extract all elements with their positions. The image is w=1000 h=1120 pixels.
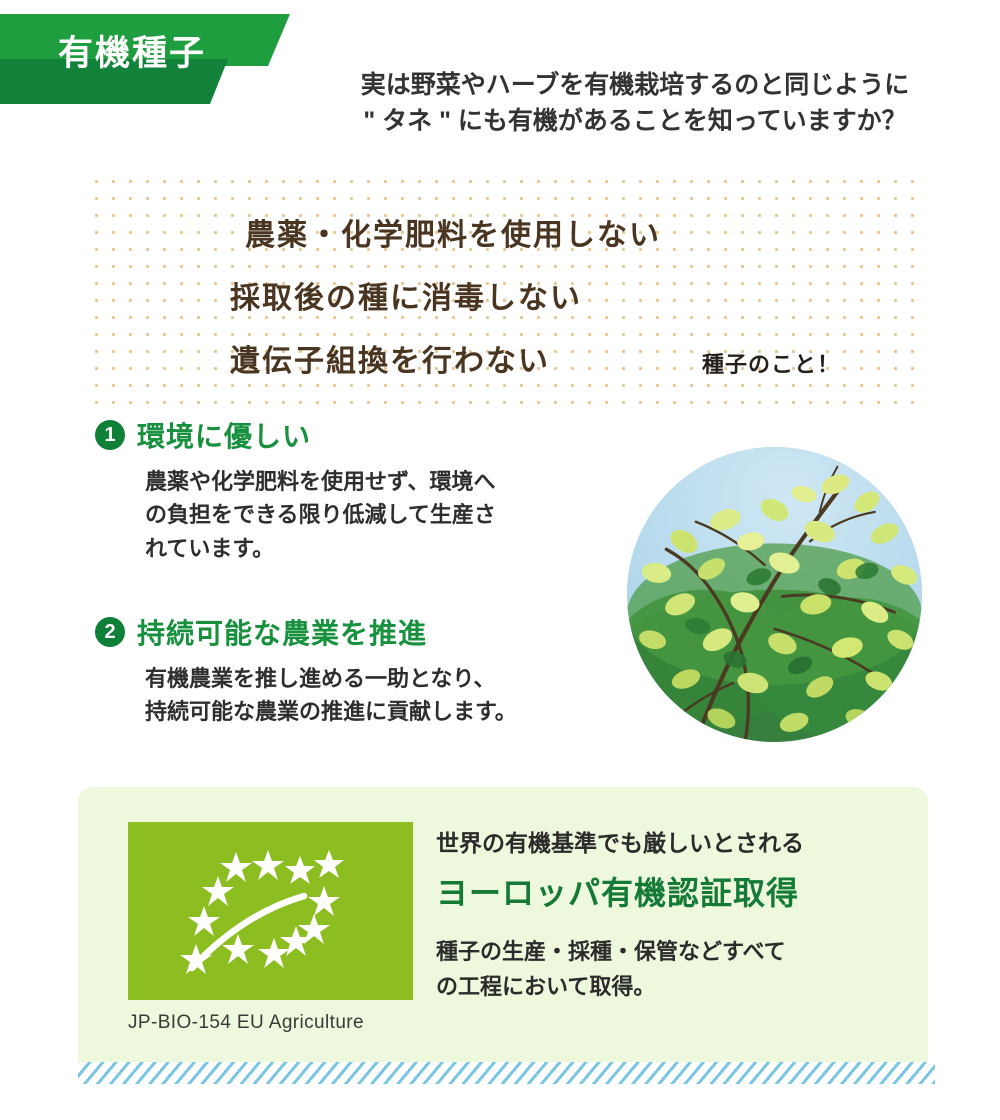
foliage-illustration-icon [627,447,922,742]
eu-leaf-stars-icon [128,822,413,1000]
benefit-1-header: 1 環境に優しい [95,415,615,455]
benefit-item-2: 2 持続可能な農業を推進 有機農業を推し進める一助となり、 持続可能な農業の推進… [95,612,615,729]
certification-description-line-2: の工程において取得。 [436,970,906,1005]
definition-line-1: 農薬・化学肥料を使用しない [245,210,661,254]
definition-line-3: 遺伝子組換を行わない [230,336,550,380]
benefit-2-body-line-2: 持続可能な農業の推進に貢献します。 [145,695,615,728]
foliage-photo [627,447,922,742]
lead-paragraph: 実は野菜やハーブを有機栽培するのと同じように " タネ " にも有機があることを… [310,68,960,139]
lead-line-2: " タネ " にも有機があることを知っていますか？ [310,104,960,140]
certification-code-caption: JP-BIO-154 EU Agriculture [128,1012,413,1034]
certification-description-line-1: 種子の生産・採種・保管などすべて [436,935,906,970]
benefit-1-title: 環境に優しい [137,415,311,455]
section-banner: 有機種子 [0,14,290,104]
organic-seeds-infographic: 有機種子 実は野菜やハーブを有機栽培するのと同じように " タネ " にも有機が… [0,0,1000,1120]
benefit-2-body-line-1: 有機農業を推し進める一助となり、 [145,662,615,695]
benefit-2-header: 2 持続可能な農業を推進 [95,612,615,652]
certification-panel: JP-BIO-154 EU Agriculture 世界の有機基準でも厳しいとさ… [78,787,928,1072]
banner-title: 有機種子 [58,36,206,71]
benefit-1-body-line-1: 農薬や化学肥料を使用せず、環境へ [145,465,615,498]
benefit-1-body: 農薬や化学肥料を使用せず、環境へ の負担をできる限り低減して生産さ れています。 [145,465,615,565]
lead-line-1: 実は野菜やハーブを有機栽培するのと同じように [310,68,960,104]
benefit-item-1: 1 環境に優しい 農薬や化学肥料を使用せず、環境へ の負担をできる限り低減して生… [95,415,615,565]
eu-organic-leaf-logo-icon [128,822,413,1000]
certification-logo-block: JP-BIO-154 EU Agriculture [128,822,413,1034]
certification-title: ヨーロッパ有機認証取得 [436,873,906,913]
number-badge-icon: 1 [95,420,125,450]
certification-text-block: 世界の有機基準でも厳しいとされる ヨーロッパ有機認証取得 種子の生産・採種・保管… [436,829,906,1004]
definition-line-2: 採取後の種に消毒しない [230,273,582,317]
benefit-1-body-line-2: の負担をできる限り低減して生産さ [145,498,615,531]
definition-note: 種子のこと！ [702,347,840,379]
certification-description: 種子の生産・採種・保管などすべて の工程において取得。 [436,935,906,1005]
certification-subtitle: 世界の有機基準でも厳しいとされる [436,829,906,859]
bottom-stripe-decoration [78,1062,935,1084]
benefit-2-title: 持続可能な農業を推進 [137,612,427,652]
benefit-2-body: 有機農業を推し進める一助となり、 持続可能な農業の推進に貢献します。 [145,662,615,729]
definition-panel: 農薬・化学肥料を使用しない 採取後の種に消毒しない 遺伝子組換を行わない 種子の… [85,170,928,408]
benefit-1-body-line-3: れています。 [145,532,615,565]
number-badge-icon: 2 [95,617,125,647]
definition-lines: 農薬・化学肥料を使用しない 採取後の種に消毒しない 遺伝子組換を行わない 種子の… [85,170,928,408]
